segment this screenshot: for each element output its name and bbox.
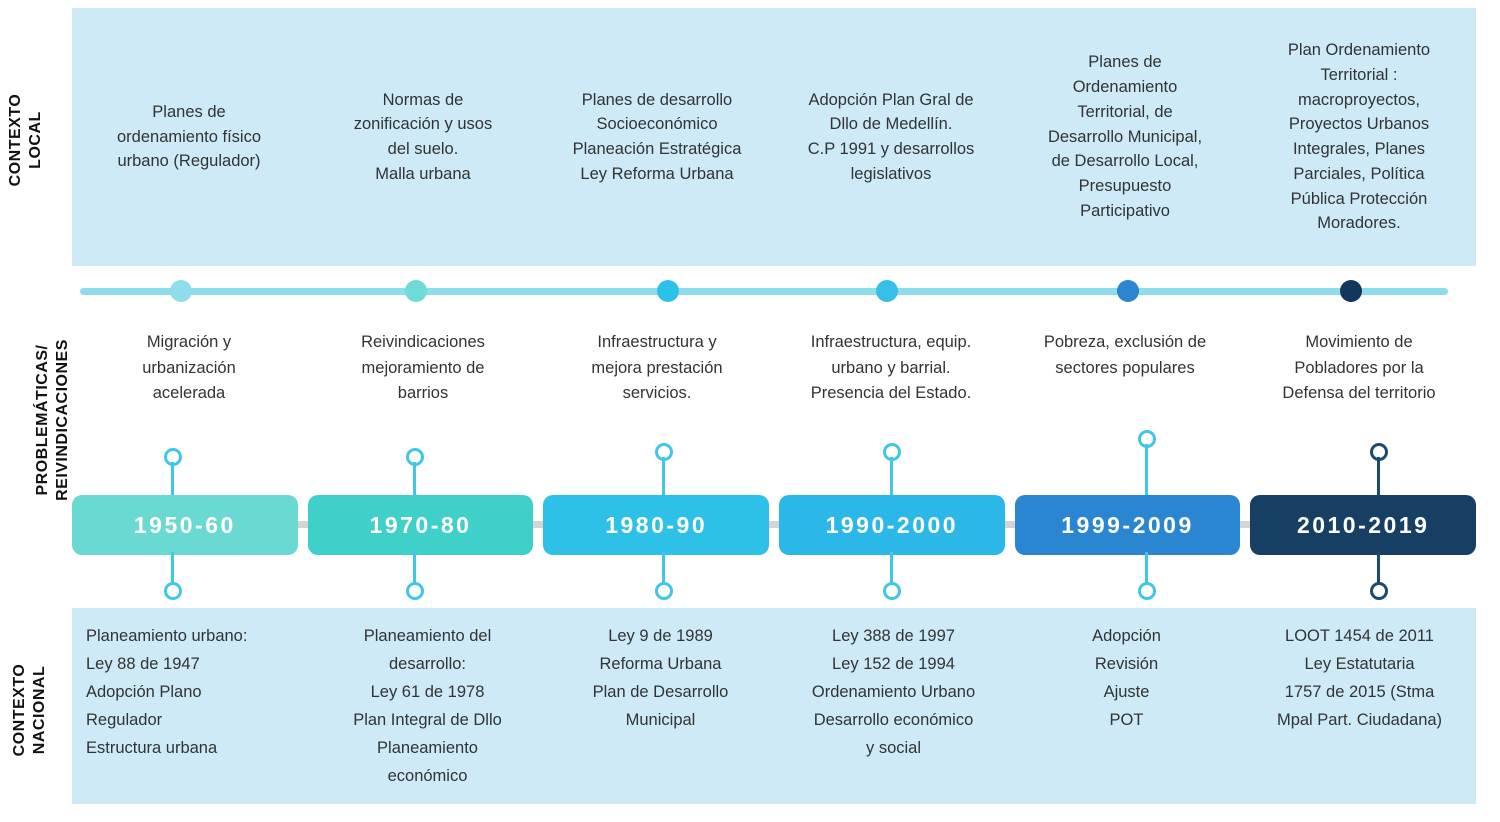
problematica-cell: Movimiento de Pobladores por la Defensa … <box>1242 330 1476 450</box>
problematica-cell: Reivindicaciones mejoramiento de barrios <box>306 330 540 450</box>
era-1999-2009[interactable]: 1999-2009 <box>1015 495 1241 555</box>
timeline-axis <box>80 288 1448 295</box>
connector-ring-bottom <box>1370 582 1388 600</box>
connector-stem-bottom <box>662 552 665 586</box>
row-label-contexto-nacional: CONTEXTO NACIONAL <box>10 630 50 790</box>
connector-ring-bottom <box>164 582 182 600</box>
contexto-local-cell: Normas de zonificación y usos del suelo.… <box>306 8 540 266</box>
contexto-local-cell: Planes de Ordenamiento Territorial, de D… <box>1008 8 1242 266</box>
era-1970-80[interactable]: 1970-80 <box>308 495 534 555</box>
timeline-dot <box>405 280 427 302</box>
timeline-infographic: CONTEXTO LOCAL PROBLEMÁTICAS/ REIVINDICA… <box>0 0 1500 822</box>
contexto-nacional-cell: Ley 9 de 1989 Reforma Urbana Plan de Des… <box>544 608 777 804</box>
contexto-local-cell: Plan Ordenamiento Territorial : macropro… <box>1242 8 1476 266</box>
contexto-nacional-cell: Planeamiento del desarrollo: Ley 61 de 1… <box>311 608 544 804</box>
connector-stem-bottom <box>171 552 174 586</box>
contexto-local-cell: Adopción Plan Gral de Dllo de Medellín. … <box>774 8 1008 266</box>
problematica-cell: Pobreza, exclusión de sectores populares <box>1008 330 1242 450</box>
contexto-nacional-band: Planeamiento urbano: Ley 88 de 1947 Adop… <box>72 608 1476 804</box>
contexto-local-cell: Planes de desarrollo Socioeconómico Plan… <box>540 8 774 266</box>
row-label-contexto-local: CONTEXTO LOCAL <box>6 70 46 210</box>
row-label-problematicas: PROBLEMÁTICAS/ REIVINDICACIONES <box>33 295 73 545</box>
contexto-local-cell: Planes de ordenamiento físico urbano (Re… <box>72 8 306 266</box>
timeline-dot <box>876 280 898 302</box>
connector-stem-bottom <box>413 552 416 586</box>
contexto-nacional-cell: Ley 388 de 1997 Ley 152 de 1994 Ordenami… <box>777 608 1010 804</box>
timeline-dot <box>657 280 679 302</box>
era-1950-60[interactable]: 1950-60 <box>72 495 298 555</box>
contexto-nacional-cell: Adopción Revisión Ajuste POT <box>1010 608 1243 804</box>
problematica-cell: Infraestructura, equip. urbano y barrial… <box>774 330 1008 450</box>
problematicas-band: Migración y urbanización acelerada Reivi… <box>72 330 1476 450</box>
connector-ring-bottom <box>1138 582 1156 600</box>
era-bar: 1950-60 1970-80 1980-90 1990-2000 1999-2… <box>72 495 1476 555</box>
connector-ring-bottom <box>406 582 424 600</box>
connector-stem-bottom <box>1377 552 1380 586</box>
timeline-dot <box>1117 280 1139 302</box>
connector-stem-top <box>1145 444 1148 502</box>
connector-ring-bottom <box>655 582 673 600</box>
connector-stem-bottom <box>890 552 893 586</box>
contexto-nacional-cell: LOOT 1454 de 2011 Ley Estatutaria 1757 d… <box>1243 608 1476 804</box>
problematica-cell: Migración y urbanización acelerada <box>72 330 306 450</box>
timeline-dot <box>170 280 192 302</box>
era-2010-2019[interactable]: 2010-2019 <box>1250 495 1476 555</box>
connector-stem-bottom <box>1145 552 1148 586</box>
contexto-local-band: Planes de ordenamiento físico urbano (Re… <box>72 8 1476 266</box>
problematica-cell: Infraestructura y mejora prestación serv… <box>540 330 774 450</box>
connector-ring-bottom <box>883 582 901 600</box>
era-1990-2000[interactable]: 1990-2000 <box>779 495 1005 555</box>
contexto-nacional-cell: Planeamiento urbano: Ley 88 de 1947 Adop… <box>72 608 311 804</box>
era-1980-90[interactable]: 1980-90 <box>543 495 769 555</box>
timeline-dot <box>1340 280 1362 302</box>
